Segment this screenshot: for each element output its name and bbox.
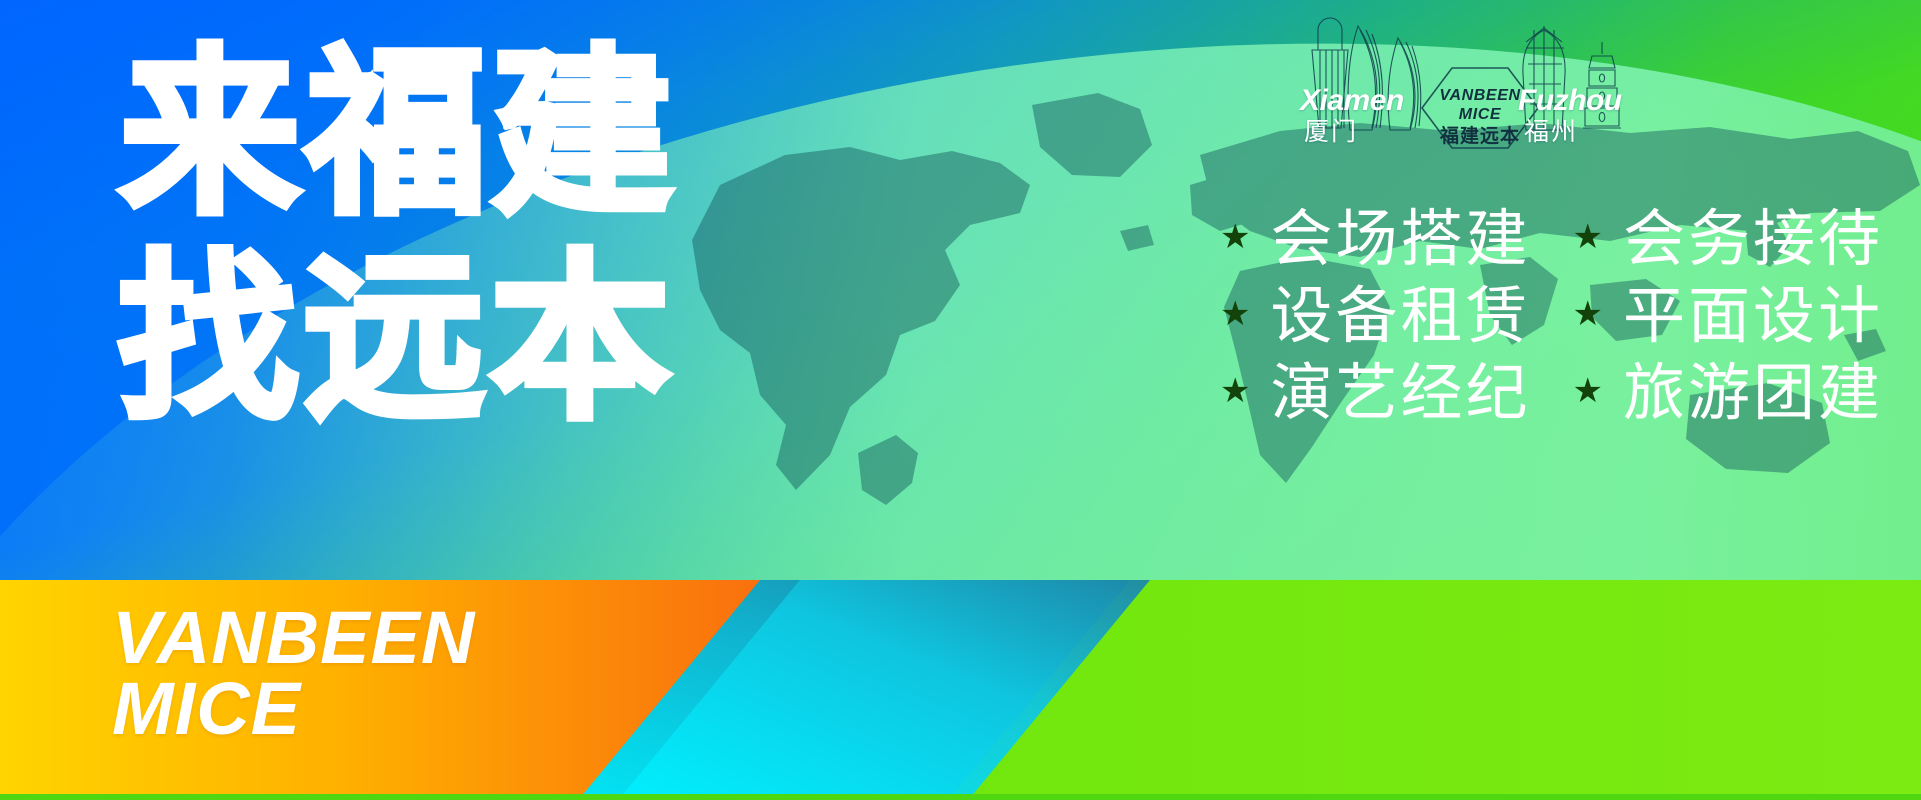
city-lockup: Xiamen 厦门 Fuzhou 福州 VANBEEN MICE 福建远本 xyxy=(1300,8,1660,168)
service-label: 会场搭建 xyxy=(1270,206,1530,273)
hexagon-line-1: VANBEEN xyxy=(1300,88,1660,104)
star-icon: ★ xyxy=(1573,220,1603,254)
service-item: ★ 会务接待 xyxy=(1573,206,1884,273)
service-list: ★ 会场搭建 ★ 会务接待 ★ 设备租赁 ★ 平面设计 ★ 演艺经纪 ★ 旅游团… xyxy=(1220,206,1883,427)
headline-line-2: 找远本 xyxy=(118,250,676,430)
promotional-banner: 来福建 找远本 ★ 会场搭建 ★ 会务接待 ★ 设备租赁 ★ 平面设计 ★ 演艺… xyxy=(0,0,1921,800)
service-item: ★ 平面设计 xyxy=(1573,283,1884,350)
star-icon: ★ xyxy=(1220,374,1250,408)
headline-line-1: 来福建 xyxy=(120,45,678,225)
service-label: 会务接待 xyxy=(1623,206,1883,273)
star-icon: ★ xyxy=(1573,297,1603,331)
service-item: ★ 会场搭建 xyxy=(1220,206,1531,273)
service-item: ★ 设备租赁 xyxy=(1220,283,1531,350)
hero-panel: 来福建 找远本 ★ 会场搭建 ★ 会务接待 ★ 设备租赁 ★ 平面设计 ★ 演艺… xyxy=(0,0,1921,582)
bottom-accent-strip xyxy=(0,794,1921,800)
service-label: 设备租赁 xyxy=(1270,283,1530,350)
hexagon-line-3: 福建远本 xyxy=(1300,127,1660,146)
bottom-brand-bar: VANBEEN MICE xyxy=(0,580,1921,800)
star-icon: ★ xyxy=(1220,220,1250,254)
brand-line-2: MICE xyxy=(112,673,475,744)
star-icon: ★ xyxy=(1220,297,1250,331)
service-label: 平面设计 xyxy=(1623,283,1883,350)
brand-line-1: VANBEEN xyxy=(112,602,475,673)
star-icon: ★ xyxy=(1573,374,1603,408)
service-label: 演艺经纪 xyxy=(1270,360,1530,427)
hexagon-line-2: MICE xyxy=(1300,107,1660,123)
service-item: ★ 演艺经纪 xyxy=(1220,360,1531,427)
brand-wordmark: VANBEEN MICE xyxy=(112,602,475,744)
service-label: 旅游团建 xyxy=(1623,360,1883,427)
service-item: ★ 旅游团建 xyxy=(1573,360,1884,427)
